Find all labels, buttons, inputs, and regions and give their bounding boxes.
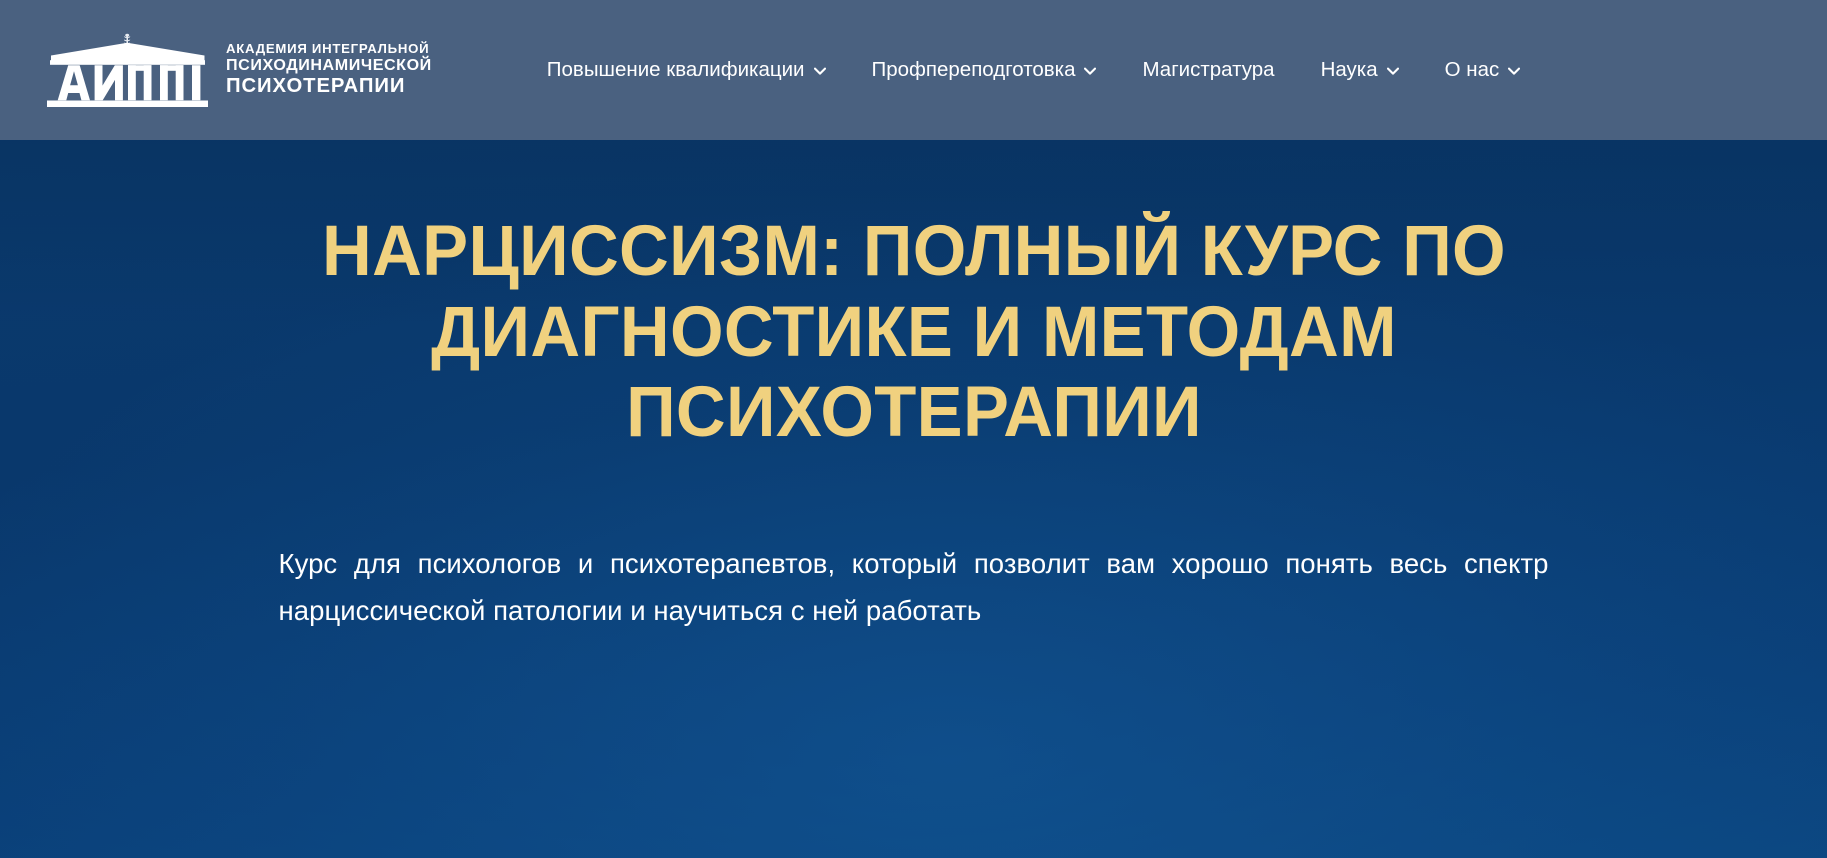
greek-temple-columns-caduceus-logo — [44, 31, 212, 109]
chevron-down-icon[interactable] — [1387, 67, 1399, 75]
nav-item-label: Повышение квалификации — [547, 60, 805, 81]
brand-wordmark: АКАДЕМИЯ ИНТЕГРАЛЬНОЙ ПСИХОДИНАМИЧЕСКОЙ … — [226, 41, 432, 100]
main-navigation: Повышение квалификации Профпереподготовк… — [524, 50, 1543, 91]
brand-logo-link[interactable]: АКАДЕМИЯ ИНТЕГРАЛЬНОЙ ПСИХОДИНАМИЧЕСКОЙ … — [44, 31, 432, 109]
nav-item-label: Магистратура — [1142, 60, 1274, 81]
site-header: АКАДЕМИЯ ИНТЕГРАЛЬНОЙ ПСИХОДИНАМИЧЕСКОЙ … — [0, 0, 1827, 140]
hero-section: НАРЦИССИЗМ: ПОЛНЫЙ КУРС ПО ДИАГНОСТИКЕ И… — [0, 140, 1827, 858]
brand-wordmark-line-1: АКАДЕМИЯ ИНТЕГРАЛЬНОЙ — [226, 41, 432, 57]
chevron-down-icon[interactable] — [1084, 67, 1096, 75]
nav-item-label: Профпереподготовка — [872, 60, 1076, 81]
page-title-line-1: НАРЦИССИЗМ: ПОЛНЫЙ КУРС ПО — [322, 212, 1506, 291]
nav-item-label: О нас — [1445, 60, 1500, 81]
hero-content: НАРЦИССИЗМ: ПОЛНЫЙ КУРС ПО ДИАГНОСТИКЕ И… — [279, 140, 1549, 634]
nav-item-profperepodgotovka[interactable]: Профпереподготовка — [849, 50, 1120, 91]
hero-subtitle: Курс для психологов и психотерапевтов, к… — [279, 540, 1549, 635]
nav-item-povyshenie-kvalifikacii[interactable]: Повышение квалификации — [524, 50, 849, 91]
nav-item-magistratura[interactable]: Магистратура — [1119, 50, 1297, 91]
nav-item-label: Наука — [1321, 60, 1378, 81]
chevron-down-icon[interactable] — [1508, 67, 1520, 75]
nav-item-nauka[interactable]: Наука — [1298, 50, 1422, 91]
chevron-down-icon[interactable] — [814, 67, 826, 75]
page-title-line-2: ДИАГНОСТИКЕ И МЕТОДАМ — [431, 293, 1397, 372]
page-title-line-3: ПСИХОТЕРАПИИ — [626, 373, 1202, 452]
brand-wordmark-line-3: ПСИХОТЕРАПИИ — [226, 75, 432, 99]
nav-item-o-nas[interactable]: О нас — [1422, 50, 1544, 91]
brand-wordmark-line-2: ПСИХОДИНАМИЧЕСКОЙ — [226, 56, 432, 75]
page-title: НАРЦИССИЗМ: ПОЛНЫЙ КУРС ПО ДИАГНОСТИКЕ И… — [298, 212, 1530, 454]
